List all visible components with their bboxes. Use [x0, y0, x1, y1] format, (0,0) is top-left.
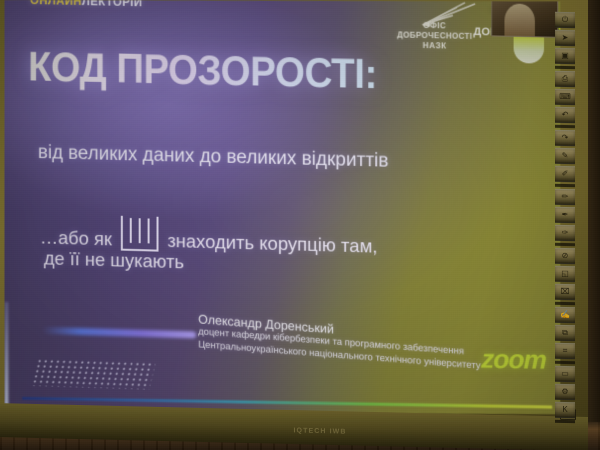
online-lectorium-logo: ОНЛАЙНЛЕКТОРІЙ	[30, 0, 142, 9]
brush-button[interactable]: ✑	[555, 225, 575, 241]
toolbar-separator	[555, 125, 575, 128]
shape-button[interactable]: ◱	[555, 266, 575, 282]
tagline-text-after: знаходить корупцію там,	[167, 230, 377, 258]
pen-button[interactable]: ✎	[555, 148, 575, 164]
slide-subtitle: від великих даних до великих відкриттів	[38, 142, 389, 173]
screenshot-button[interactable]: ⧉	[555, 325, 575, 341]
slide-title: КОД ПРОЗОРОСТІ:	[28, 43, 377, 99]
toolbar-separator	[555, 302, 575, 305]
marker-button[interactable]: ✏	[555, 189, 575, 205]
select-button[interactable]: ▣	[555, 48, 575, 64]
save-button[interactable]: ⎙	[555, 71, 575, 87]
settings-button[interactable]: ⚙	[555, 384, 575, 400]
page-button[interactable]: ▭	[555, 366, 575, 382]
speaker-accent-bar	[42, 327, 196, 339]
undo-button[interactable]: ↶	[555, 107, 575, 123]
photo-root: ОНЛАЙНЛЕКТОРІЙ ОФІС ДОБРОЧЕСНОСТІ НАЗК О…	[0, 0, 600, 450]
logo-part-online: ОНЛАЙН	[30, 0, 82, 8]
zoom-watermark: zoom	[481, 344, 546, 376]
toolbar-separator	[555, 184, 575, 187]
projected-slide: ОНЛАЙНЛЕКТОРІЙ ОФІС ДОБРОЧЕСНОСТІ НАЗК О…	[4, 0, 560, 429]
dot-matrix-decoration	[31, 358, 156, 389]
crop-button[interactable]: ⌧	[555, 284, 575, 300]
whiteboard-toolbar[interactable]: ⏻➤▣⎙⌨↶↷✎✐✏✒✑⊘◱⌧✍⧉⌗▭⚙K	[553, 8, 577, 429]
redo-button[interactable]: ↷	[555, 130, 575, 146]
toolbar-separator	[555, 361, 575, 364]
toolbar-separator	[555, 420, 575, 423]
slide-tagline-line-2: де її не шукають	[44, 247, 184, 273]
nazk-office-logo: ОФІС ДОБРОЧЕСНОСТІ НАЗК	[386, 20, 483, 52]
pencil-button[interactable]: ✐	[555, 166, 575, 182]
toolbar-separator	[555, 243, 575, 246]
logo-part-lectorium: ЛЕКТОРІЙ	[82, 0, 142, 9]
speaker-block: Олександр Доренський доцент кафедри кібе…	[198, 312, 480, 372]
highlighter-button[interactable]: ✒	[555, 207, 575, 223]
nazk-line-3: НАЗК	[386, 40, 483, 52]
toolbar-separator	[555, 66, 575, 69]
more-button[interactable]: K	[555, 402, 575, 418]
keyboard-button[interactable]: ⌨	[555, 89, 575, 105]
grid-button[interactable]: ⌗	[555, 343, 575, 359]
slide-edge-highlight-left	[4, 302, 8, 411]
cursor-button[interactable]: ➤	[555, 30, 575, 46]
power-button[interactable]: ⏻	[555, 12, 575, 28]
integrity-week-shield-icon	[514, 35, 544, 64]
eraser-button[interactable]: ⊘	[555, 248, 575, 264]
video-thumbnail	[491, 0, 558, 38]
edit-button[interactable]: ✍	[555, 307, 575, 323]
ai-sh-letter-icon	[118, 214, 162, 255]
